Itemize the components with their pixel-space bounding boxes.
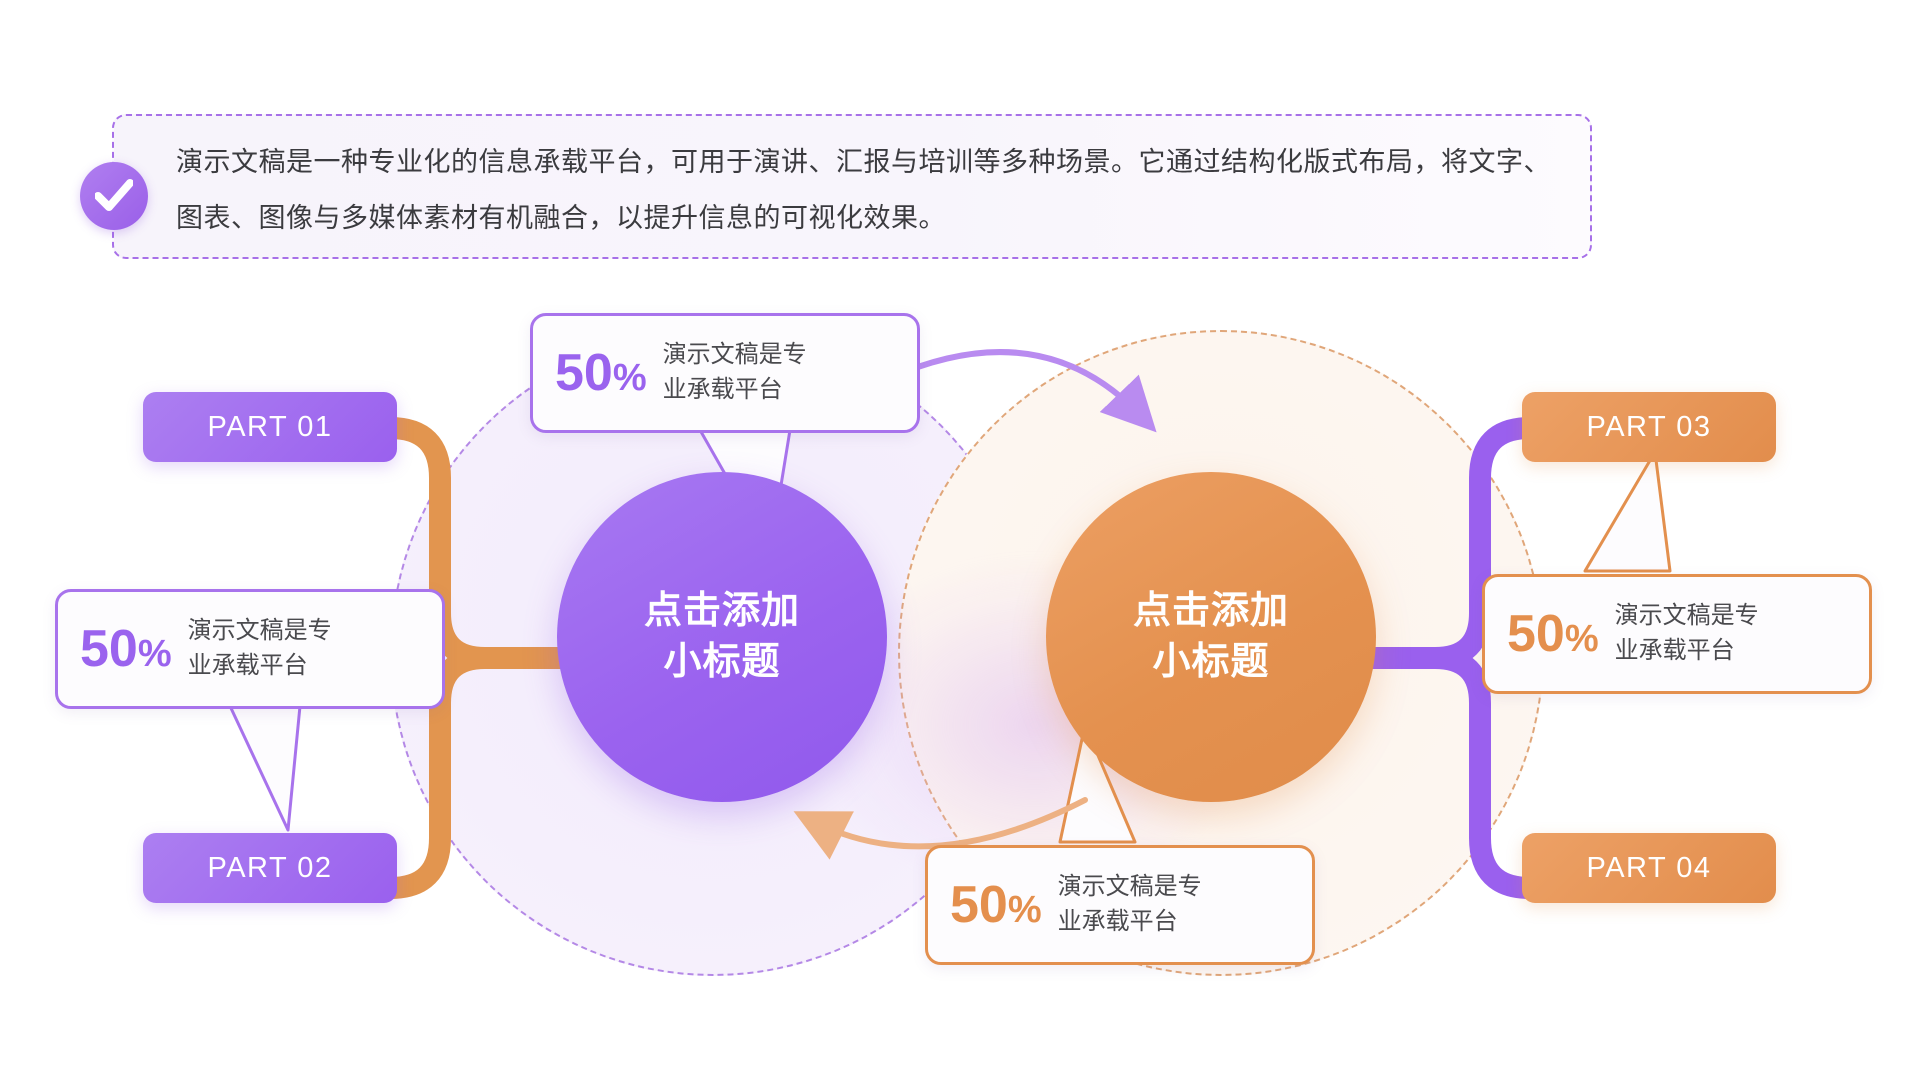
part-pill-03-label: PART 03	[1587, 411, 1712, 444]
main-circle-left[interactable]: 点击添加 小标题	[557, 472, 887, 802]
part-pill-01-label: PART 01	[208, 411, 333, 444]
slide-canvas: 点击添加 小标题 点击添加 小标题 PART 01 PART 02 PART 0…	[0, 0, 1920, 1080]
circle-right-line1: 点击添加	[1133, 586, 1289, 637]
part-pill-02[interactable]: PART 02	[143, 833, 397, 903]
circle-right-text: 点击添加 小标题	[1133, 586, 1289, 688]
part-pill-03[interactable]: PART 03	[1522, 392, 1776, 462]
callout-left-value: 50%	[80, 623, 172, 675]
callout-right-value: 50%	[1507, 608, 1599, 660]
callout-card-right[interactable]: 50% 演示文稿是专 业承载平台	[1482, 574, 1872, 694]
callout-top-line2: 业承载平台	[663, 373, 807, 408]
part-pill-01[interactable]: PART 01	[143, 392, 397, 462]
callout-bottom-value: 50%	[950, 879, 1042, 931]
main-circle-right[interactable]: 点击添加 小标题	[1046, 472, 1376, 802]
callout-card-bottom[interactable]: 50% 演示文稿是专 业承载平台	[925, 845, 1315, 965]
callout-bottom-text: 演示文稿是专 业承载平台	[1058, 870, 1202, 940]
callout-bottom-line1: 演示文稿是专	[1058, 870, 1202, 905]
callout-card-top[interactable]: 50% 演示文稿是专 业承载平台	[530, 313, 920, 433]
callout-top-value: 50%	[555, 347, 647, 399]
callout-top-line1: 演示文稿是专	[663, 338, 807, 373]
callout-right-line1: 演示文稿是专	[1615, 599, 1759, 634]
part-pill-04[interactable]: PART 04	[1522, 833, 1776, 903]
circle-right-line2: 小标题	[1133, 637, 1289, 688]
circle-left-line1: 点击添加	[644, 586, 800, 637]
callout-card-left[interactable]: 50% 演示文稿是专 业承载平台	[55, 589, 445, 709]
callout-left-line1: 演示文稿是专	[188, 614, 332, 649]
description-banner-text: 演示文稿是一种专业化的信息承载平台，可用于演讲、汇报与培训等多种场景。它通过结构…	[176, 134, 1551, 246]
callout-right-line2: 业承载平台	[1615, 634, 1759, 669]
callout-bottom-line2: 业承载平台	[1058, 905, 1202, 940]
description-banner: 演示文稿是一种专业化的信息承载平台，可用于演讲、汇报与培训等多种场景。它通过结构…	[112, 114, 1592, 259]
callout-left-line2: 业承载平台	[188, 649, 332, 684]
circle-left-text: 点击添加 小标题	[644, 586, 800, 688]
check-circle-icon	[80, 162, 148, 230]
part-pill-02-label: PART 02	[208, 852, 333, 885]
callout-left-text: 演示文稿是专 业承载平台	[188, 614, 332, 684]
part-pill-04-label: PART 04	[1587, 852, 1712, 885]
callout-right-text: 演示文稿是专 业承载平台	[1615, 599, 1759, 669]
callout-top-text: 演示文稿是专 业承载平台	[663, 338, 807, 408]
circle-left-line2: 小标题	[644, 637, 800, 688]
